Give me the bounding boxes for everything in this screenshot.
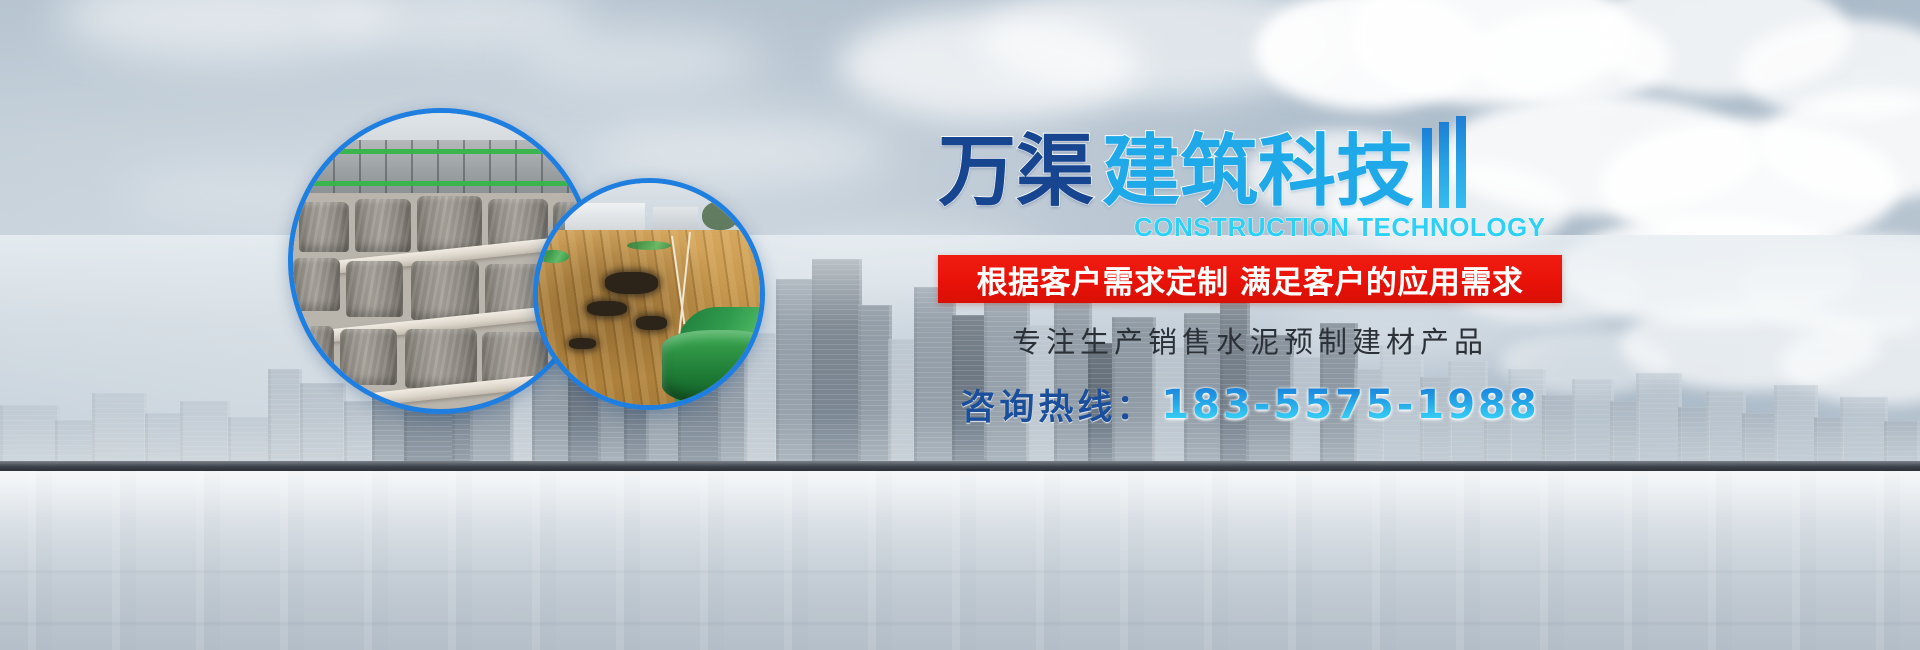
brand-name-secondary: 建筑科技 — [1102, 135, 1414, 210]
hotline-number[interactable]: 183-5575-1988 — [1161, 382, 1539, 428]
tagline-text: 专注生产销售水泥预制建材产品 — [938, 319, 1562, 361]
red-slogan-bar: 根据客户需求定制 满足客户的应用需求 — [938, 255, 1562, 303]
brand-title-row: 万渠 建筑科技 — [938, 124, 1578, 210]
hotline-label: 咨询热线： — [960, 379, 1155, 430]
brand-name-primary: 万渠 — [938, 135, 1094, 210]
plaza-floor — [0, 471, 1920, 650]
product-photo-circle-secondary[interactable] — [533, 178, 765, 410]
plaza-curb — [0, 461, 1920, 471]
promo-banner: 万渠 建筑科技 CONSTRUCTION TECHNOLOGY 根据客户需求定制… — [0, 0, 1920, 650]
excavation-site-image — [538, 183, 760, 405]
banner-text-block: 万渠 建筑科技 CONSTRUCTION TECHNOLOGY 根据客户需求定制… — [938, 124, 1578, 430]
vertical-bars-decoration-icon — [1422, 116, 1466, 210]
red-slogan-text: 根据客户需求定制 满足客户的应用需求 — [977, 257, 1524, 302]
hotline-row: 咨询热线： 183-5575-1988 — [938, 379, 1562, 430]
